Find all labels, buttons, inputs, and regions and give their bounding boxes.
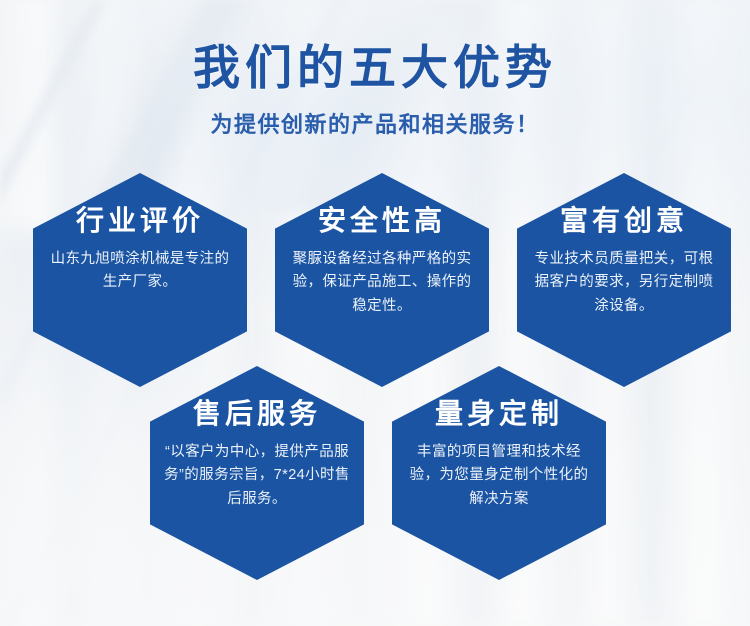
advantage-body: 专业技术员质量把关，可根据客户的要求，另行定制喷涂设备。 [531,248,717,318]
advantage-body: 山东九旭喷涂机械是专注的生产厂家。 [49,248,231,295]
advantage-title: 安全性高 [318,207,446,238]
advantage-title: 售后服务 [193,400,321,431]
advantage-card-creative[interactable]: 富有创意 专业技术员质量把关，可根据客户的要求，另行定制喷涂设备。 [517,173,731,387]
advantage-title: 富有创意 [560,207,688,238]
advantage-card-after-sales-service[interactable]: 售后服务 “以客户为中心，提供产品服务”的服务宗旨，7*24小时售后服务。 [150,366,364,580]
advantage-card-industry-reputation[interactable]: 行业评价 山东九旭喷涂机械是专注的生产厂家。 [33,173,247,387]
advantage-card-tailor-made[interactable]: 量身定制 丰富的项目管理和技术经验，为您量身定制个性化的解决方案 [392,366,606,580]
advantage-body: 聚脲设备经过各种严格的实验，保证产品施工、操作的稳定性。 [289,248,475,318]
page-title: 我们的五大优势 [0,42,750,97]
poster-heading: 我们的五大优势 为提供创新的产品和相关服务！ [0,42,750,139]
advantage-title: 行业评价 [76,207,204,238]
advantage-title: 量身定制 [435,400,563,431]
advantage-card-high-safety[interactable]: 安全性高 聚脲设备经过各种严格的实验，保证产品施工、操作的稳定性。 [275,173,489,387]
page-subtitle: 为提供创新的产品和相关服务！ [0,107,750,139]
advantage-body: 丰富的项目管理和技术经验，为您量身定制个性化的解决方案 [406,441,592,511]
advantages-poster: 我们的五大优势 为提供创新的产品和相关服务！ 行业评价 山东九旭喷涂机械是专注的… [0,0,750,626]
advantage-body: “以客户为中心，提供产品服务”的服务宗旨，7*24小时售后服务。 [164,441,350,511]
